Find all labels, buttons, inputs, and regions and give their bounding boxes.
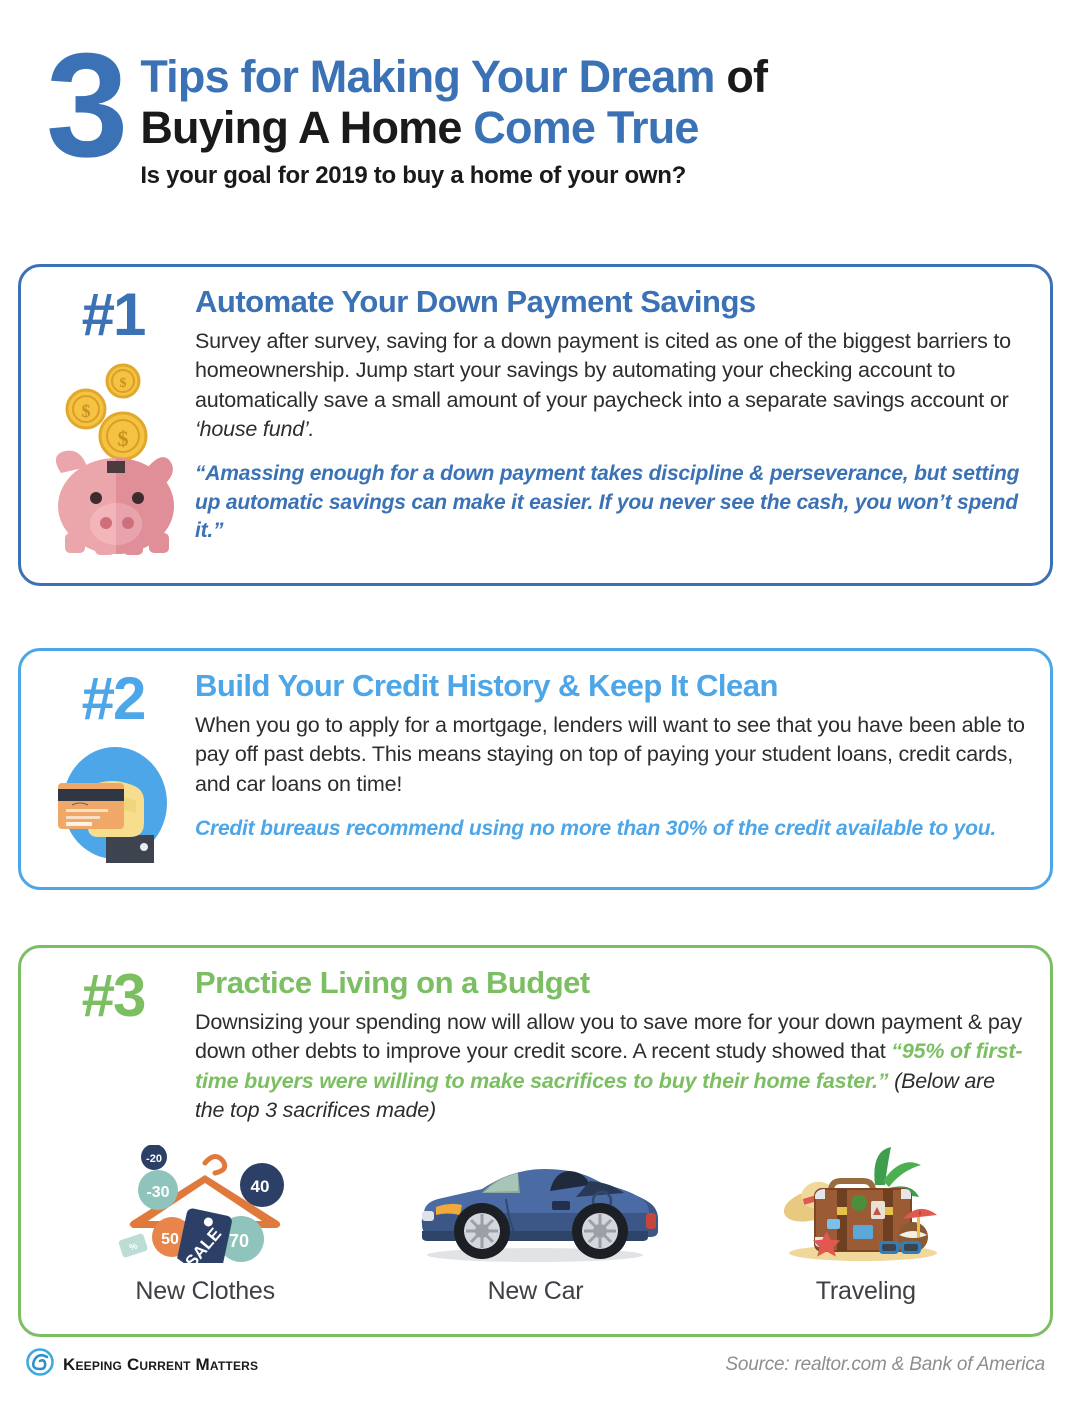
tip-1-left-column: #1 $ $ $ — [43, 285, 183, 583]
tip-2-quote: Credit bureaus recommend using no more t… — [195, 815, 1028, 844]
tip-card-1: #1 $ $ $ — [18, 264, 1053, 586]
tip-2-number: #2 — [43, 669, 183, 729]
sacrifice-item-clothes: -30 -20 40 50 70 % — [55, 1145, 355, 1306]
header-line-1-black: of — [715, 51, 768, 102]
brand-block[interactable]: Keeping Current Matters — [26, 1348, 258, 1381]
header-big-number: 3 — [46, 38, 124, 174]
tip-3-body: Downsizing your spending now will allow … — [195, 1008, 1028, 1125]
tip-3-title: Practice Living on a Budget — [195, 966, 1028, 1000]
sacrifice-item-traveling: Traveling — [716, 1145, 1016, 1306]
sacrifice-item-car: New Car — [385, 1145, 685, 1306]
tip-1-number: #1 — [43, 285, 183, 345]
tip-2-title: Build Your Credit History & Keep It Clea… — [195, 669, 1028, 703]
sacrifice-label-traveling: Traveling — [716, 1277, 1016, 1306]
footer: Keeping Current Matters Source: realtor.… — [26, 1348, 1045, 1381]
tip-card-2: #2 — [18, 648, 1053, 890]
svg-text:$: $ — [82, 401, 91, 421]
sacrifices-row: -30 -20 40 50 70 % — [40, 1145, 1031, 1306]
tip-2-content: Build Your Credit History & Keep It Clea… — [183, 669, 1028, 887]
tip-1-body-italic: ‘house fund’. — [195, 417, 314, 441]
svg-text:$: $ — [120, 376, 127, 391]
kcm-spiral-logo-icon — [26, 1348, 54, 1381]
sacrifice-label-car: New Car — [385, 1277, 685, 1306]
tip-1-body: Survey after survey, saving for a down p… — [195, 327, 1028, 444]
header-line-2-black: Buying A Home — [140, 102, 461, 153]
tip-2-left-column: #2 — [43, 669, 183, 887]
header-title-block: Tips for Making Your Dream of Buying A H… — [140, 46, 767, 190]
svg-text:50: 50 — [161, 1231, 179, 1248]
svg-text:-30: -30 — [147, 1184, 170, 1201]
tip-2-body: When you go to apply for a mortgage, len… — [195, 711, 1028, 799]
header-subtitle: Is your goal for 2019 to buy a home of y… — [140, 162, 767, 190]
svg-text:$: $ — [118, 426, 129, 451]
tip-3-number: #3 — [43, 966, 183, 1026]
tip-1-quote: “Amassing enough for a down payment take… — [195, 460, 1028, 546]
tip-1-content: Automate Your Down Payment Savings Surve… — [183, 285, 1028, 583]
brand-name: Keeping Current Matters — [63, 1355, 258, 1375]
header-line-2: Buying A Home Come True — [140, 105, 767, 151]
header-line-1: Tips for Making Your Dream of — [140, 54, 767, 100]
header-line-2-blue: Come True — [462, 102, 699, 153]
svg-text:-20: -20 — [146, 1153, 162, 1165]
blue-convertible-car-icon — [385, 1145, 685, 1263]
tip-1-title: Automate Your Down Payment Savings — [195, 285, 1028, 319]
header-line-1-blue: Tips for Making Your Dream — [140, 51, 714, 102]
piggy-bank-with-coins-icon: $ $ $ — [43, 361, 183, 561]
hand-holding-credit-card-icon — [43, 743, 183, 868]
travel-suitcase-icon — [716, 1145, 1016, 1263]
tip-1-body-text: Survey after survey, saving for a down p… — [195, 329, 1011, 411]
header: 3 Tips for Making Your Dream of Buying A… — [0, 0, 1071, 190]
clothes-hanger-sale-tags-icon: -30 -20 40 50 70 % — [55, 1145, 355, 1263]
infographic-page: 3 Tips for Making Your Dream of Buying A… — [0, 0, 1071, 1403]
sacrifice-label-clothes: New Clothes — [55, 1277, 355, 1306]
svg-text:40: 40 — [251, 1177, 270, 1196]
source-credit: Source: realtor.com & Bank of America — [725, 1354, 1045, 1376]
svg-text:70: 70 — [229, 1231, 249, 1251]
